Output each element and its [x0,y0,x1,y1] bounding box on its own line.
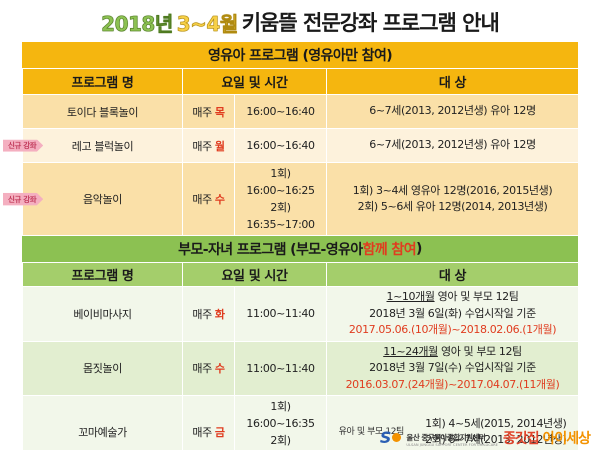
time-line-1: 11:00~11:40 [238,305,323,322]
target-cell: 1~10개월 영아 및 부모 12팀 2018년 3월 6일(화) 수업시작일 … [327,287,579,342]
target-line-1: 1~10개월 영아 및 부모 12팀 [330,289,575,306]
day-prefix: 매주 [192,308,211,321]
target-line-3-dates: 2016.03.07.(24개월)~2017.04.07.(11개월) [330,377,575,394]
time-line-1: 1회) 16:00~16:25 [238,165,323,199]
table-row: 베이비마사지 매주 화 11:00~11:40 1~10개월 영아 및 부모 1… [23,287,579,342]
title-year: 2018년 [101,8,173,37]
section-label-highlight: 함께 참여 [363,239,416,259]
time-line-2: 2회) 16:35~17:00 [238,199,323,233]
time-line-1: 11:00~11:40 [238,360,323,377]
target-cell: 11~24개월 영아 및 부모 12팀 2018년 3월 7일(수) 수업시작일… [327,341,579,396]
col-header-target: 대 상 [327,69,579,95]
center-name-ko: 울산 중구육아종합지원센터 [406,433,485,442]
program-name-label: 베이비마사지 [26,306,179,322]
table-row: 토이다 블록놀이 매주 목 16:00~16:40 6~7세(2013, 201… [23,95,579,129]
section-header-parent-child: 부모-자녀 프로그램 (부모-영유아 함께 참여) [22,236,578,262]
table-row: 몸짓놀이 매주 수 11:00~11:40 11~24개월 영아 및 부모 12… [23,341,579,396]
day-cell: 매주 수 [183,341,235,396]
program-name-label: 음악놀이 [26,191,179,207]
program-schedule-page: 2018년 3~4월 키움뜰 전문강좌 프로그램 안내 영유아 프로그램 (영유… [0,0,600,450]
col-header-target: 대 상 [327,263,579,287]
time-line-1: 1회) 16:00~16:35 [238,398,323,432]
title-rest: 키움뜰 전문강좌 프로그램 안내 [242,7,499,37]
col-header-day-time: 요일 및 시간 [183,263,327,287]
center-name-en: ULSAN JUNGGU SUPPORT CENTER FOR CHILDCAR… [406,444,498,448]
program-name-cell: 베이비마사지 [23,287,183,342]
target-cell: 1회) 3~4세 영유아 12명(2016, 2015년생) 2회) 5~6세 … [327,163,579,236]
title-month: 3~4월 [177,8,238,37]
new-course-badge: 신규 강좌 [3,193,43,206]
target-line-3-dates: 2017.05.06.(10개월)~2018.02.06.(1개월) [330,322,575,339]
day-value: 화 [215,308,225,321]
brand-part-1: 종갓집 [503,431,539,447]
time-line-2: 2회) 16:45~17:20 [238,432,323,450]
col-header-day-time: 요일 및 시간 [183,69,327,95]
program-name-cell: 신규 강좌 레고 블럭놀이 [23,129,183,163]
day-value: 수 [215,193,225,206]
time-cell: 1회) 16:00~16:25 2회) 16:35~17:00 [235,163,327,236]
day-value: 목 [215,106,225,119]
center-name-block: 울산 중구육아종합지원센터 ULSAN JUNGGU SUPPORT CENTE… [406,427,498,448]
infant-program-table: 프로그램 명 요일 및 시간 대 상 토이다 블록놀이 매주 목 16:00~1… [22,68,579,236]
table-header-row-infant: 프로그램 명 요일 및 시간 대 상 [23,69,579,95]
target-line-2: 2회) 5~6세 유아 12명(2014, 2013년생) [330,199,575,216]
program-name-label: 레고 블럭놀이 [26,138,179,154]
program-name-cell: 신규 강좌 음악놀이 [23,163,183,236]
day-value: 금 [215,426,225,439]
day-prefix: 매주 [192,140,211,153]
day-prefix: 매주 [192,426,211,439]
target-line-2: 2018년 3월 6일(화) 수업시작일 기준 [330,306,575,323]
day-prefix: 매주 [192,106,211,119]
day-prefix: 매주 [192,362,211,375]
section-label-post: ) [416,241,422,257]
program-name-cell: 토이다 블록놀이 [23,95,183,129]
target-line-2: 2018년 3월 7일(수) 수업시작일 기준 [330,360,575,377]
table-row: 신규 강좌 레고 블럭놀이 매주 월 16:00~16:40 6~7세(2013… [23,129,579,163]
logo-s-icon: S [380,428,391,447]
time-line-1: 16:00~16:40 [238,137,323,154]
brand-name: 종갓집 아이세상 [503,428,590,448]
table-row: 신규 강좌 음악놀이 매주 수 1회) 16:00~16:25 2회) 16:3… [23,163,579,236]
target-line-1: 6~7세(2013, 2012년생) 유아 12명 [330,103,575,120]
program-name-cell: 몸짓놀이 [23,341,183,396]
day-cell: 매주 수 [183,163,235,236]
program-name-label: 몸짓놀이 [26,360,179,376]
time-cell: 16:00~16:40 [235,129,327,163]
day-cell: 매주 목 [183,95,235,129]
time-line-1: 16:00~16:40 [238,103,323,120]
logo-dot-icon [392,433,401,442]
program-name-label: 토이다 블록놀이 [26,104,179,120]
target-line-1-rest: 영아 및 부모 12팀 [438,345,522,358]
parent-child-program-table: 프로그램 명 요일 및 시간 대 상 베이비마사지 매주 화 11:00~11:… [22,262,579,450]
program-name-label: 꼬마예술가 [26,424,179,440]
time-cell: 11:00~11:40 [235,341,327,396]
target-line-1: 6~7세(2013, 2012년생) 유아 12명 [330,137,575,154]
time-cell: 11:00~11:40 [235,287,327,342]
time-cell: 1회) 16:00~16:35 2회) 16:45~17:20 [235,396,327,450]
day-cell: 매주 월 [183,129,235,163]
section-label-pre: 부모-자녀 프로그램 (부모-영유아 [178,239,362,259]
target-cell: 6~7세(2013, 2012년생) 유아 12명 [327,95,579,129]
day-cell: 매주 화 [183,287,235,342]
target-line-1: 1회) 3~4세 영유아 12명(2016, 2015년생) [330,183,575,200]
new-course-badge: 신규 강좌 [3,139,43,152]
target-age-range: 11~24개월 [383,345,438,358]
brand-part-2: 아이세상 [542,431,590,447]
day-prefix: 매주 [192,193,211,206]
section-header-infant: 영유아 프로그램 (영유아만 참여) [22,42,578,68]
day-value: 월 [215,140,225,153]
target-line-1: 11~24개월 영아 및 부모 12팀 [330,344,575,361]
target-cell: 6~7세(2013, 2012년생) 유아 12명 [327,129,579,163]
page-title: 2018년 3~4월 키움뜰 전문강좌 프로그램 안내 [0,0,600,42]
time-cell: 16:00~16:40 [235,95,327,129]
target-line-1-rest: 영아 및 부모 12팀 [435,290,519,303]
day-cell: 매주 금 [183,396,235,450]
footer-logo: S 울산 중구육아종합지원센터 ULSAN JUNGGU SUPPORT CEN… [380,427,590,448]
table-header-row-parent-child: 프로그램 명 요일 및 시간 대 상 [23,263,579,287]
col-header-program-name: 프로그램 명 [23,263,183,287]
target-age-range: 1~10개월 [387,290,435,303]
col-header-program-name: 프로그램 명 [23,69,183,95]
program-name-cell: 꼬마예술가 [23,396,183,450]
day-value: 수 [215,362,225,375]
